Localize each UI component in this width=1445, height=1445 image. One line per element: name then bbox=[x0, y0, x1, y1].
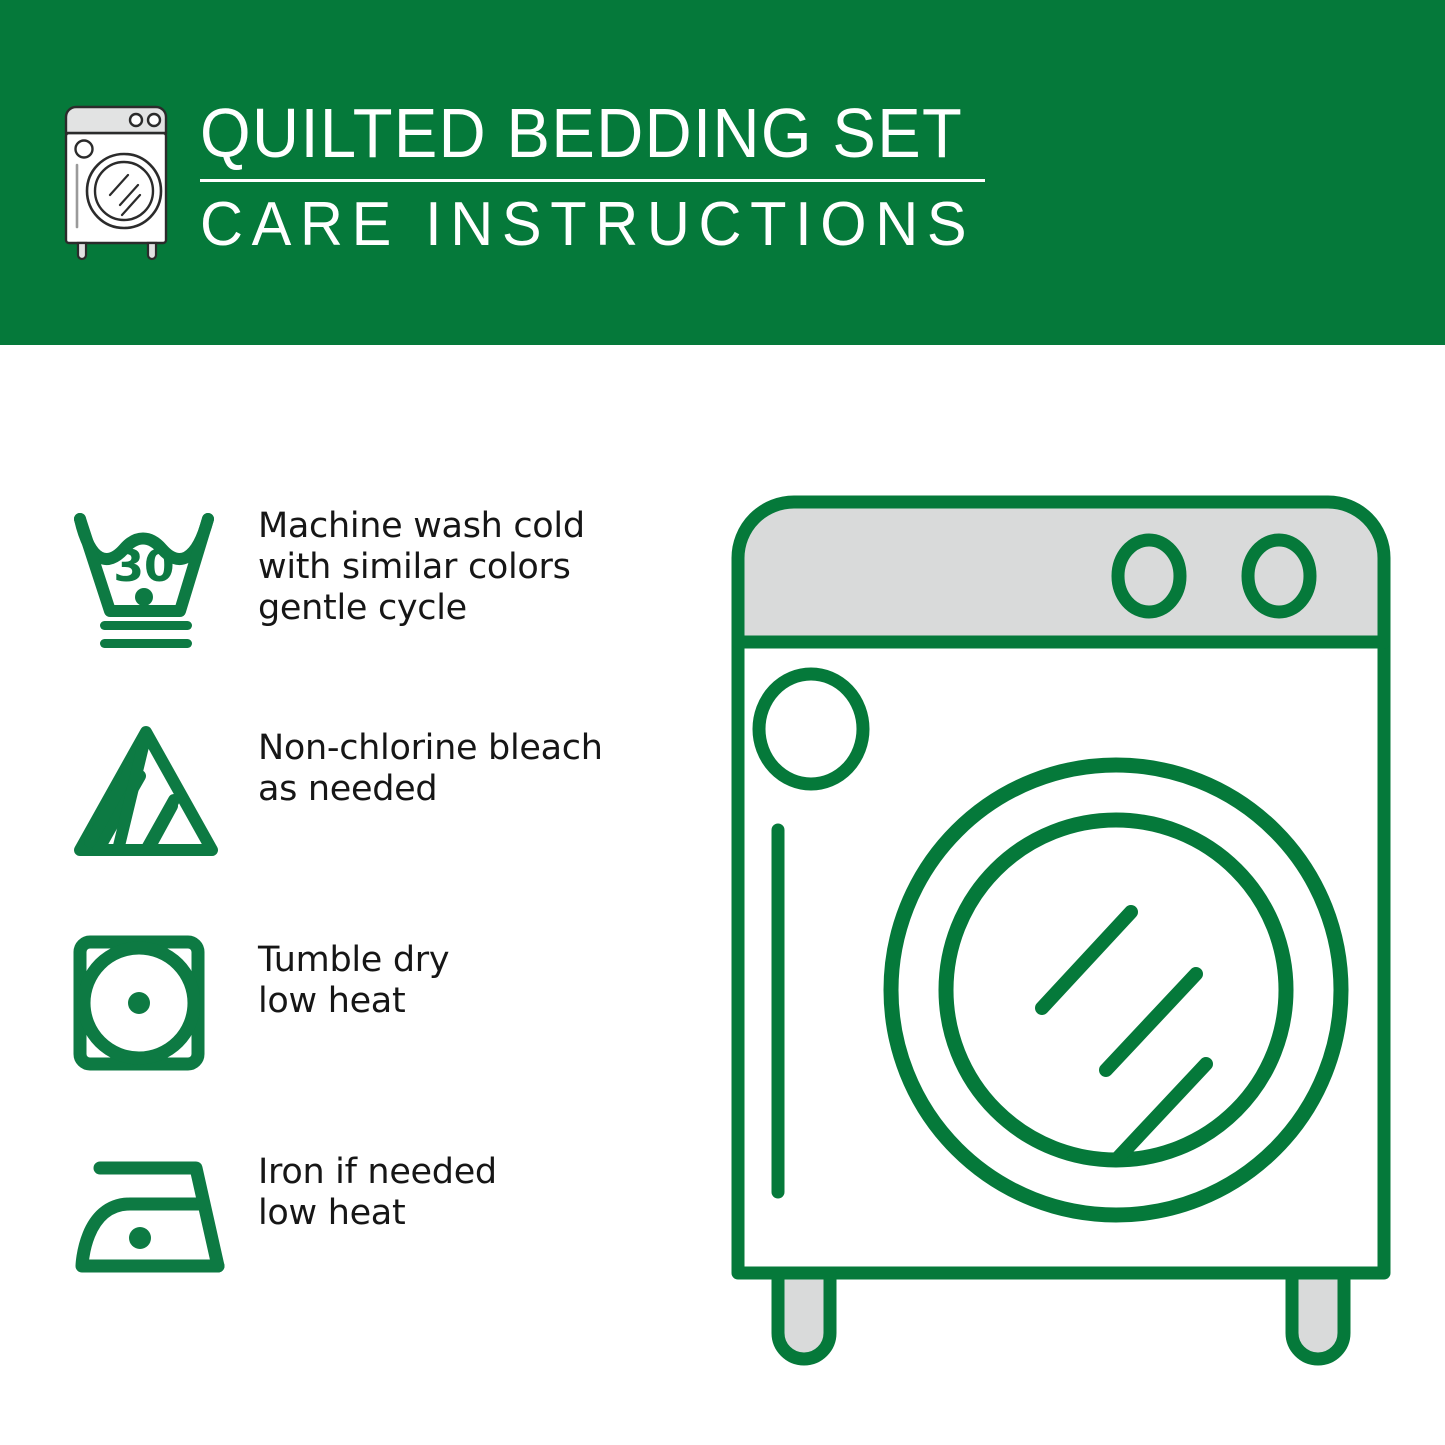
control-knob bbox=[1118, 540, 1180, 612]
care-instruction-list: 30 Machine wash cold with similar colors… bbox=[60, 480, 680, 1328]
title-divider bbox=[200, 179, 985, 182]
care-line: Tumble dry bbox=[258, 940, 680, 981]
care-line: Machine wash cold bbox=[258, 506, 680, 547]
care-line: as needed bbox=[258, 769, 680, 810]
header-title-block: QUILTED BEDDING SET CARE INSTRUCTIONS bbox=[200, 95, 1021, 258]
iron-low-heat-icon bbox=[60, 1138, 240, 1303]
front-load-washing-machine-illustration bbox=[716, 480, 1406, 1380]
care-line: low heat bbox=[258, 981, 680, 1022]
machine-leg bbox=[1292, 1273, 1344, 1359]
header-banner: QUILTED BEDDING SET CARE INSTRUCTIONS bbox=[0, 0, 1445, 345]
care-instructions-page: QUILTED BEDDING SET CARE INSTRUCTIONS bbox=[0, 0, 1445, 1445]
machine-leg bbox=[778, 1273, 830, 1359]
drum-inner-ring bbox=[946, 820, 1286, 1160]
care-line: with similar colors bbox=[258, 547, 680, 588]
care-row-tumble-dry: Tumble dry low heat bbox=[60, 904, 680, 1116]
wash-temperature-label: 30 bbox=[113, 541, 174, 592]
detergent-dispenser-icon bbox=[759, 674, 863, 784]
care-text-iron: Iron if needed low heat bbox=[240, 1116, 680, 1234]
page-title: QUILTED BEDDING SET bbox=[200, 95, 963, 171]
care-row-bleach: Non-chlorine bleach as needed bbox=[60, 692, 680, 904]
care-line: Iron if needed bbox=[258, 1152, 680, 1193]
care-row-machine-wash: 30 Machine wash cold with similar colors… bbox=[60, 480, 680, 692]
care-text-machine-wash: Machine wash cold with similar colors ge… bbox=[240, 480, 680, 629]
care-row-iron: Iron if needed low heat bbox=[60, 1116, 680, 1328]
machine-wash-30-gentle-icon: 30 bbox=[60, 498, 240, 663]
care-line: low heat bbox=[258, 1193, 680, 1234]
care-text-tumble-dry: Tumble dry low heat bbox=[240, 904, 680, 1022]
washing-machine-icon bbox=[60, 103, 178, 263]
care-line: gentle cycle bbox=[258, 588, 680, 629]
page-subtitle: CARE INSTRUCTIONS bbox=[200, 192, 988, 258]
tumble-dry-low-icon bbox=[60, 920, 240, 1085]
care-text-bleach: Non-chlorine bleach as needed bbox=[240, 692, 680, 810]
control-knob bbox=[1248, 540, 1310, 612]
non-chlorine-bleach-icon bbox=[60, 710, 240, 875]
care-line: Non-chlorine bleach bbox=[258, 728, 680, 769]
header-content: QUILTED BEDDING SET CARE INSTRUCTIONS bbox=[60, 95, 1000, 270]
